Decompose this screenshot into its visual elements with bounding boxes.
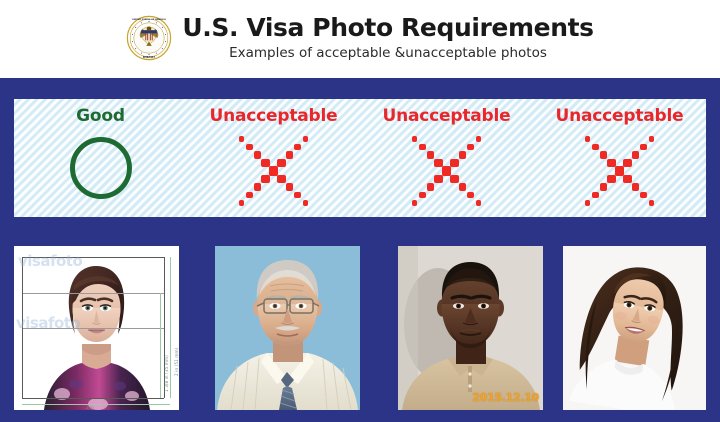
page-title: U.S. Visa Photo Requirements [182, 14, 593, 41]
verdict-cell-3: Unacceptable [360, 99, 533, 217]
x-mark-dot [303, 136, 309, 142]
x-mark-dot [294, 192, 301, 199]
x-mark-dot [277, 175, 285, 183]
x-mark-icon [583, 134, 657, 208]
guide-label-height: 2 in (51 mm) [174, 348, 179, 376]
x-mark-icon [237, 134, 311, 208]
x-mark-dot [600, 183, 607, 190]
photo-example-4 [563, 246, 706, 410]
x-mark-dot [467, 144, 474, 151]
x-mark-dot [640, 192, 647, 199]
guide-dim-arrow-height [170, 257, 171, 398]
x-mark-dot [476, 200, 482, 206]
x-mark-dot [476, 136, 482, 142]
x-mark-dot [239, 136, 245, 142]
verdict-banner: Good Unacceptable Unacceptable Unaccepta… [14, 99, 706, 217]
x-mark-dot [254, 151, 261, 158]
x-mark-dot [649, 136, 655, 142]
verdict-cell-2: Unacceptable [187, 99, 360, 217]
x-mark-dot [615, 166, 624, 175]
us-department-of-state-seal-icon: UNITED STATES OF AMERICA EMBASSY [126, 15, 172, 61]
x-mark-dot [600, 151, 607, 158]
photo-example-3: 2015.12.10 [398, 246, 543, 410]
x-mark-dot [450, 175, 458, 183]
x-mark-dot [419, 192, 426, 199]
photo-frame-3: 2015.12.10 [398, 246, 543, 410]
header-text-block: U.S. Visa Photo Requirements Examples of… [182, 14, 593, 61]
x-mark-dot [277, 159, 285, 167]
circle-mark-icon [70, 137, 132, 199]
x-mark-dot [649, 200, 655, 206]
verdict-mark-2 [237, 134, 311, 208]
verdict-cell-1: Good [14, 99, 187, 217]
photo-frame-1: visafoto visafoto 2 in (51 mm) 1 3/8 in … [14, 246, 179, 410]
x-mark-dot [303, 200, 309, 206]
svg-text:UNITED STATES OF AMERICA: UNITED STATES OF AMERICA [132, 19, 166, 21]
x-mark-dot [592, 192, 599, 199]
verdict-mark-1 [64, 134, 138, 208]
header-bar: UNITED STATES OF AMERICA EMBASSY U.S. Vi… [0, 0, 720, 78]
x-mark-dot [607, 175, 615, 183]
photo-frame-2 [215, 246, 360, 410]
x-mark-dot [459, 183, 466, 190]
header-content: UNITED STATES OF AMERICA EMBASSY U.S. Vi… [126, 14, 593, 61]
x-mark-dot [246, 144, 253, 151]
guide-line-bottom [22, 398, 164, 399]
camera-datestamp: 2015.12.10 [472, 391, 539, 404]
x-mark-dot [632, 183, 639, 190]
x-mark-dot [286, 151, 293, 158]
measurement-guides-overlay: visafoto visafoto 2 in (51 mm) 1 3/8 in … [14, 246, 179, 410]
x-mark-dot [632, 151, 639, 158]
x-mark-dot [434, 175, 442, 183]
portrait-elderly-man-glasses [215, 246, 360, 410]
portrait-man-with-shadow-background [398, 246, 543, 410]
x-mark-dot [294, 144, 301, 151]
x-mark-dot [269, 166, 278, 175]
x-mark-dot [239, 200, 245, 206]
watermark-middle: visafoto [16, 314, 80, 332]
x-mark-dot [442, 166, 451, 175]
x-mark-dot [254, 183, 261, 190]
guide-dim-arrow-head [160, 293, 161, 398]
verdict-label-good: Good [76, 108, 125, 125]
x-mark-dot [450, 159, 458, 167]
guide-label-head: 1 3/8 in (35 mm) [164, 355, 169, 392]
verdict-label-unacceptable-2: Unacceptable [383, 108, 511, 125]
page-subtitle: Examples of acceptable &unacceptable pho… [229, 45, 547, 61]
guide-label-width: 2 in [86, 405, 94, 410]
x-mark-dot [412, 136, 418, 142]
x-mark-dot [419, 144, 426, 151]
verdict-mark-3 [410, 134, 484, 208]
watermark-top: visafoto [18, 252, 82, 270]
x-mark-dot [286, 183, 293, 190]
x-mark-dot [459, 151, 466, 158]
x-mark-dot [640, 144, 647, 151]
portrait-smiling-woman-tilted-head [563, 246, 706, 410]
x-mark-icon [410, 134, 484, 208]
photo-example-1: visafoto visafoto 2 in (51 mm) 1 3/8 in … [14, 246, 179, 410]
photo-examples-strip: visafoto visafoto 2 in (51 mm) 1 3/8 in … [0, 246, 720, 410]
x-mark-dot [623, 159, 631, 167]
visa-photo-requirements-infographic: UNITED STATES OF AMERICA EMBASSY U.S. Vi… [0, 0, 720, 422]
x-mark-dot [427, 151, 434, 158]
x-mark-dot [585, 200, 591, 206]
verdict-mark-4 [583, 134, 657, 208]
guide-line-crown [22, 293, 164, 294]
x-mark-dot [467, 192, 474, 199]
x-mark-dot [592, 144, 599, 151]
x-mark-dot [261, 175, 269, 183]
x-mark-dot [246, 192, 253, 199]
verdict-label-unacceptable-1: Unacceptable [210, 108, 338, 125]
photo-frame-4 [563, 246, 706, 410]
guide-dim-arrow-width [22, 404, 170, 405]
verdict-cell-4: Unacceptable [533, 99, 706, 217]
verdict-label-unacceptable-3: Unacceptable [556, 108, 684, 125]
x-mark-dot [412, 200, 418, 206]
x-mark-dot [623, 175, 631, 183]
photo-example-2 [215, 246, 360, 410]
svg-text:EMBASSY: EMBASSY [143, 56, 156, 59]
x-mark-dot [427, 183, 434, 190]
x-mark-dot [585, 136, 591, 142]
